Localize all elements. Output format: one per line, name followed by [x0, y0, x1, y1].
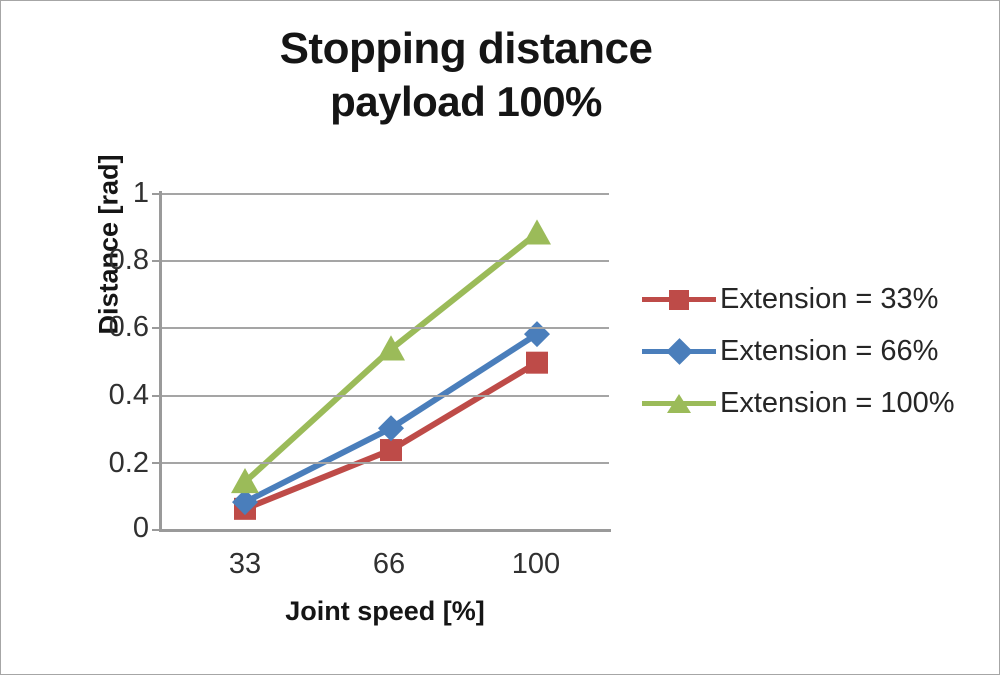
- x-tick-label: 33: [229, 550, 261, 579]
- y-axis-tick: [152, 260, 161, 262]
- legend-label: Extension = 66%: [720, 337, 938, 366]
- x-axis-title: Joint speed [%]: [161, 596, 609, 627]
- y-axis-tick: [152, 193, 161, 195]
- y-tick-label: 0.6: [61, 313, 149, 342]
- legend-key-red-square-icon: [642, 286, 716, 312]
- x-tick-label: 100: [512, 550, 560, 579]
- x-tick-label: 66: [373, 550, 405, 579]
- gridline-0.4: [161, 395, 609, 397]
- legend-item-extension-100[interactable]: Extension = 100%: [642, 377, 990, 429]
- y-axis-tick: [152, 529, 161, 531]
- gridline-0.6: [161, 327, 609, 329]
- chart-screenshot: Stopping distance payload 100% Distance …: [0, 0, 1000, 675]
- legend-key-blue-diamond-icon: [642, 338, 716, 364]
- legend-item-extension-33[interactable]: Extension = 33%: [642, 273, 990, 325]
- gridline-1.0: [161, 193, 609, 195]
- y-axis-tick: [152, 395, 161, 397]
- legend-item-extension-66[interactable]: Extension = 66%: [642, 325, 990, 377]
- y-tick-label: 0.2: [61, 449, 149, 478]
- legend-key-green-triangle-icon: [642, 390, 716, 416]
- data-point-marker: [526, 352, 548, 374]
- chart-legend: Extension = 33% Extension = 66% Extensio…: [642, 273, 990, 429]
- y-axis-tick: [152, 462, 161, 464]
- gridline-0.2: [161, 462, 609, 464]
- y-axis-line: [159, 191, 162, 531]
- gridline-0.8: [161, 260, 609, 262]
- x-axis-line: [159, 529, 611, 532]
- y-axis-tick: [152, 327, 161, 329]
- plot-area: [161, 193, 609, 529]
- legend-label: Extension = 100%: [720, 389, 955, 418]
- data-series-layer: [161, 193, 609, 529]
- y-tick-label: 1: [61, 179, 149, 208]
- y-tick-label: 0: [61, 514, 149, 543]
- y-tick-label: 0.8: [61, 246, 149, 275]
- legend-label: Extension = 33%: [720, 285, 938, 314]
- data-point-marker: [523, 219, 551, 244]
- data-point-marker: [380, 439, 402, 461]
- y-tick-label: 0.4: [61, 381, 149, 410]
- x-axis-tick-labels: 33 66 100: [1, 550, 1000, 590]
